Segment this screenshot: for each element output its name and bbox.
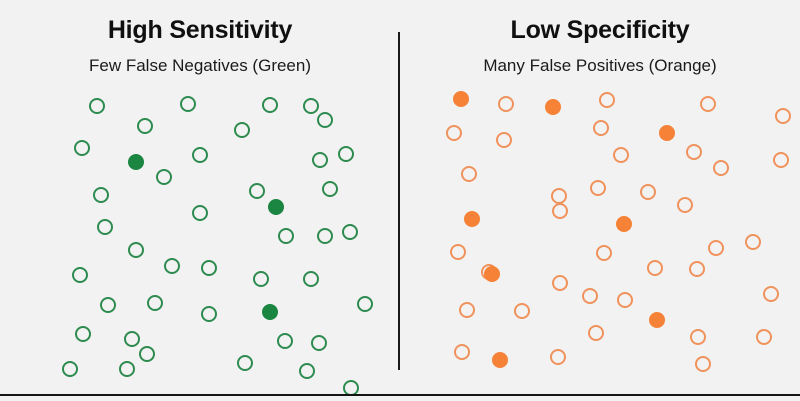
- marker-open: [713, 160, 729, 176]
- marker-open: [599, 92, 615, 108]
- marker-open: [690, 329, 706, 345]
- marker-open: [686, 144, 702, 160]
- marker-open: [253, 271, 269, 287]
- marker-open: [496, 132, 512, 148]
- marker-open: [590, 180, 606, 196]
- marker-open: [147, 295, 163, 311]
- marker-open: [201, 260, 217, 276]
- marker-filled: [492, 352, 508, 368]
- marker-open: [277, 333, 293, 349]
- marker-open: [775, 108, 791, 124]
- marker-open: [156, 169, 172, 185]
- marker-open: [119, 361, 135, 377]
- marker-open: [237, 355, 253, 371]
- marker-open: [700, 96, 716, 112]
- marker-open: [552, 203, 568, 219]
- marker-filled: [649, 312, 665, 328]
- marker-open: [342, 224, 358, 240]
- marker-open: [498, 96, 514, 112]
- marker-open: [180, 96, 196, 112]
- marker-open: [249, 183, 265, 199]
- marker-open: [89, 98, 105, 114]
- marker-open: [551, 188, 567, 204]
- marker-open: [201, 306, 217, 322]
- marker-open: [317, 228, 333, 244]
- marker-open: [72, 267, 88, 283]
- marker-open: [596, 245, 612, 261]
- marker-filled: [262, 304, 278, 320]
- marker-open: [74, 140, 90, 156]
- marker-open: [695, 356, 711, 372]
- marker-open: [93, 187, 109, 203]
- marker-open: [97, 219, 113, 235]
- marker-open: [773, 152, 789, 168]
- marker-open: [459, 302, 475, 318]
- marker-open: [617, 292, 633, 308]
- marker-open: [75, 326, 91, 342]
- marker-open: [756, 329, 772, 345]
- marker-filled: [453, 91, 469, 107]
- marker-open: [745, 234, 761, 250]
- marker-open: [100, 297, 116, 313]
- dot-field-low-specificity: [400, 0, 800, 401]
- figure-canvas: High Sensitivity Few False Negatives (Gr…: [0, 0, 800, 401]
- marker-open: [262, 97, 278, 113]
- marker-open: [317, 112, 333, 128]
- marker-open: [763, 286, 779, 302]
- marker-open: [552, 275, 568, 291]
- marker-open: [278, 228, 294, 244]
- marker-open: [192, 147, 208, 163]
- marker-open: [357, 296, 373, 312]
- vertical-divider: [398, 32, 400, 370]
- dot-field-high-sensitivity: [0, 0, 400, 401]
- panel-low-specificity: Low Specificity Many False Positives (Or…: [400, 0, 800, 401]
- marker-open: [640, 184, 656, 200]
- marker-open: [322, 181, 338, 197]
- marker-filled: [545, 99, 561, 115]
- marker-open: [446, 125, 462, 141]
- marker-open: [192, 205, 208, 221]
- marker-open: [338, 146, 354, 162]
- marker-open: [234, 122, 250, 138]
- marker-filled: [616, 216, 632, 232]
- marker-open: [303, 271, 319, 287]
- marker-open: [613, 147, 629, 163]
- marker-open: [514, 303, 530, 319]
- bottom-rule: [0, 394, 800, 396]
- marker-open: [677, 197, 693, 213]
- marker-filled: [268, 199, 284, 215]
- marker-open: [708, 240, 724, 256]
- marker-open: [124, 331, 140, 347]
- marker-open: [450, 244, 466, 260]
- marker-open: [647, 260, 663, 276]
- marker-open: [454, 344, 470, 360]
- marker-open: [164, 258, 180, 274]
- marker-open: [312, 152, 328, 168]
- marker-open: [137, 118, 153, 134]
- marker-open: [139, 346, 155, 362]
- marker-open: [588, 325, 604, 341]
- marker-open: [550, 349, 566, 365]
- marker-open: [461, 166, 477, 182]
- marker-open: [593, 120, 609, 136]
- marker-open: [311, 335, 327, 351]
- marker-open: [62, 361, 78, 377]
- marker-filled: [464, 211, 480, 227]
- marker-filled: [484, 266, 500, 282]
- marker-open: [128, 242, 144, 258]
- marker-filled: [128, 154, 144, 170]
- marker-open: [303, 98, 319, 114]
- panel-high-sensitivity: High Sensitivity Few False Negatives (Gr…: [0, 0, 400, 401]
- marker-open: [689, 261, 705, 277]
- marker-open: [299, 363, 315, 379]
- marker-open: [582, 288, 598, 304]
- marker-filled: [659, 125, 675, 141]
